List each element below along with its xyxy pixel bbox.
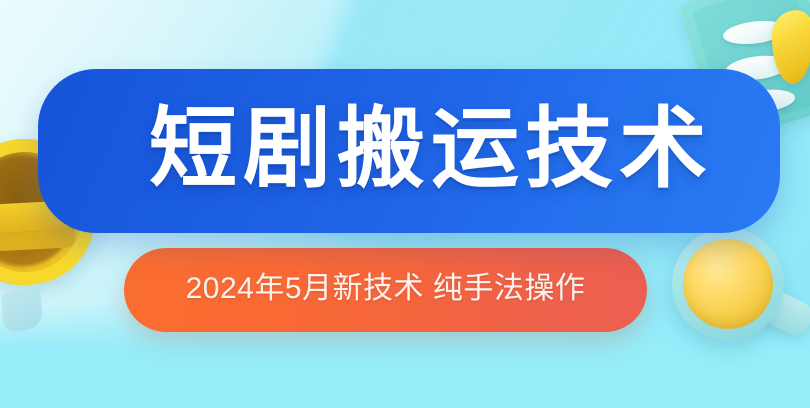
magnifier-pan-icon [672,228,784,340]
subtitle-pill: 2024年5月新技术 纯手法操作 [124,248,647,332]
page-title: 短剧搬运技术 [149,105,713,193]
magnifier-disc-icon [683,239,773,329]
subtitle-text: 2024年5月新技术 纯手法操作 [186,274,586,304]
title-pill: 短剧搬运技术 [38,69,780,233]
promo-poster: 2024年5月新技术 纯手法操作 短剧搬运技术 [0,0,810,408]
